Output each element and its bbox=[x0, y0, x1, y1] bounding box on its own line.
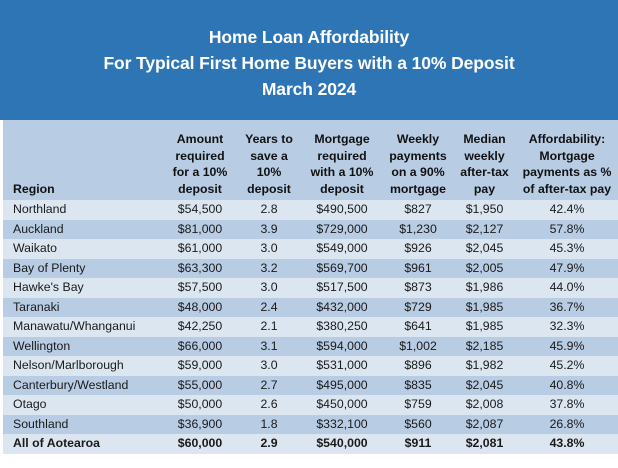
total-cell-years: 2.9 bbox=[237, 434, 301, 454]
column-header-affordability-line-1: Affordability: bbox=[520, 131, 614, 148]
cell-region: Taranaki bbox=[3, 298, 163, 318]
cell-weekly: $759 bbox=[383, 395, 453, 415]
cell-affordability: 44.0% bbox=[516, 278, 618, 298]
table-row: Bay of Plenty$63,3003.2$569,700$961$2,00… bbox=[3, 259, 618, 279]
column-header-median-pay: Median weekly after-tax pay bbox=[453, 120, 516, 200]
cell-years: 2.4 bbox=[237, 298, 301, 318]
column-header-years-line-2: save a bbox=[241, 148, 297, 165]
column-header-weekly-line-1: Weekly bbox=[387, 131, 449, 148]
cell-median: $1,985 bbox=[453, 298, 516, 318]
cell-amount: $61,000 bbox=[163, 239, 237, 259]
cell-region: Hawke's Bay bbox=[3, 278, 163, 298]
cell-mortgage: $495,000 bbox=[301, 376, 383, 396]
affordability-table: Region Amount required for a 10% deposit… bbox=[3, 120, 618, 454]
cell-years: 3.0 bbox=[237, 239, 301, 259]
total-cell-region: All of Aotearoa bbox=[3, 434, 163, 454]
cell-median: $1,985 bbox=[453, 317, 516, 337]
cell-affordability: 32.3% bbox=[516, 317, 618, 337]
cell-median: $2,185 bbox=[453, 337, 516, 357]
table-row: Auckland$81,0003.9$729,000$1,230$2,12757… bbox=[3, 220, 618, 240]
cell-amount: $50,000 bbox=[163, 395, 237, 415]
cell-amount: $66,000 bbox=[163, 337, 237, 357]
cell-mortgage: $729,000 bbox=[301, 220, 383, 240]
cell-region: Canterbury/Westland bbox=[3, 376, 163, 396]
column-header-affordability: Affordability: Mortgage payments as % of… bbox=[516, 120, 618, 200]
cell-affordability: 45.2% bbox=[516, 356, 618, 376]
cell-mortgage: $432,000 bbox=[301, 298, 383, 318]
cell-amount: $54,500 bbox=[163, 200, 237, 220]
report-page: Home Loan Affordability For Typical Firs… bbox=[0, 0, 618, 468]
column-header-affordability-line-3: payments as % bbox=[520, 164, 614, 181]
cell-weekly: $835 bbox=[383, 376, 453, 396]
cell-amount: $36,900 bbox=[163, 415, 237, 435]
table-row: Otago$50,0002.6$450,000$759$2,00837.8% bbox=[3, 395, 618, 415]
cell-affordability: 36.7% bbox=[516, 298, 618, 318]
cell-affordability: 45.9% bbox=[516, 337, 618, 357]
column-header-amount: Amount required for a 10% deposit bbox=[163, 120, 237, 200]
column-header-years-line-1: Years to bbox=[241, 131, 297, 148]
cell-mortgage: $380,250 bbox=[301, 317, 383, 337]
cell-region: Auckland bbox=[3, 220, 163, 240]
cell-affordability: 26.8% bbox=[516, 415, 618, 435]
cell-region: Wellington bbox=[3, 337, 163, 357]
column-header-affordability-line-2: Mortgage bbox=[520, 148, 614, 165]
column-header-weekly-line-4: mortgage bbox=[387, 181, 449, 198]
column-header-weekly-line-2: payments bbox=[387, 148, 449, 165]
column-header-amount-line-3: for a 10% bbox=[167, 164, 233, 181]
cell-amount: $59,000 bbox=[163, 356, 237, 376]
cell-mortgage: $531,000 bbox=[301, 356, 383, 376]
cell-weekly: $896 bbox=[383, 356, 453, 376]
column-header-affordability-line-4: of after-tax pay bbox=[520, 181, 614, 198]
cell-median: $1,950 bbox=[453, 200, 516, 220]
column-header-region: Region bbox=[3, 120, 163, 200]
column-header-mortgage: Mortgage required with a 10% deposit bbox=[301, 120, 383, 200]
cell-median: $2,087 bbox=[453, 415, 516, 435]
cell-amount: $55,000 bbox=[163, 376, 237, 396]
total-cell-median: $2,081 bbox=[453, 434, 516, 454]
cell-region: Manawatu/Whanganui bbox=[3, 317, 163, 337]
affordability-table-wrapper: Region Amount required for a 10% deposit… bbox=[3, 120, 618, 454]
cell-amount: $42,250 bbox=[163, 317, 237, 337]
page-title-line-1: Home Loan Affordability bbox=[209, 24, 409, 50]
cell-years: 3.1 bbox=[237, 337, 301, 357]
cell-affordability: 40.8% bbox=[516, 376, 618, 396]
column-header-weekly-payments: Weekly payments on a 90% mortgage bbox=[383, 120, 453, 200]
cell-amount: $81,000 bbox=[163, 220, 237, 240]
cell-median: $2,005 bbox=[453, 259, 516, 279]
cell-weekly: $873 bbox=[383, 278, 453, 298]
cell-affordability: 42.4% bbox=[516, 200, 618, 220]
cell-mortgage: $450,000 bbox=[301, 395, 383, 415]
cell-years: 2.7 bbox=[237, 376, 301, 396]
cell-region: Nelson/Marlborough bbox=[3, 356, 163, 376]
cell-region: Waikato bbox=[3, 239, 163, 259]
table-header-row: Region Amount required for a 10% deposit… bbox=[3, 120, 618, 200]
cell-weekly: $641 bbox=[383, 317, 453, 337]
total-cell-amount: $60,000 bbox=[163, 434, 237, 454]
cell-years: 3.0 bbox=[237, 356, 301, 376]
cell-median: $2,045 bbox=[453, 239, 516, 259]
cell-years: 2.6 bbox=[237, 395, 301, 415]
table-row: Southland$36,9001.8$332,100$560$2,08726.… bbox=[3, 415, 618, 435]
page-title-line-2: For Typical First Home Buyers with a 10%… bbox=[103, 50, 514, 76]
total-cell-affordability: 43.8% bbox=[516, 434, 618, 454]
column-header-mortgage-line-1: Mortgage bbox=[305, 131, 379, 148]
cell-median: $1,986 bbox=[453, 278, 516, 298]
cell-years: 2.8 bbox=[237, 200, 301, 220]
cell-weekly: $729 bbox=[383, 298, 453, 318]
column-header-years-line-3: 10% bbox=[241, 164, 297, 181]
cell-amount: $57,500 bbox=[163, 278, 237, 298]
cell-median: $2,127 bbox=[453, 220, 516, 240]
cell-affordability: 37.8% bbox=[516, 395, 618, 415]
cell-mortgage: $569,700 bbox=[301, 259, 383, 279]
cell-years: 1.8 bbox=[237, 415, 301, 435]
column-header-mortgage-line-4: deposit bbox=[305, 181, 379, 198]
cell-mortgage: $332,100 bbox=[301, 415, 383, 435]
cell-weekly: $1,230 bbox=[383, 220, 453, 240]
cell-affordability: 47.9% bbox=[516, 259, 618, 279]
column-header-mortgage-line-3: with a 10% bbox=[305, 164, 379, 181]
table-row: Waikato$61,0003.0$549,000$926$2,04545.3% bbox=[3, 239, 618, 259]
table-row: Wellington$66,0003.1$594,000$1,002$2,185… bbox=[3, 337, 618, 357]
cell-weekly: $926 bbox=[383, 239, 453, 259]
table-row: Manawatu/Whanganui$42,2502.1$380,250$641… bbox=[3, 317, 618, 337]
cell-affordability: 57.8% bbox=[516, 220, 618, 240]
column-header-weekly-line-3: on a 90% bbox=[387, 164, 449, 181]
cell-mortgage: $490,500 bbox=[301, 200, 383, 220]
cell-region: Bay of Plenty bbox=[3, 259, 163, 279]
column-header-median-line-1: Median bbox=[457, 131, 512, 148]
total-cell-weekly: $911 bbox=[383, 434, 453, 454]
cell-median: $1,982 bbox=[453, 356, 516, 376]
column-header-amount-line-1: Amount bbox=[167, 131, 233, 148]
cell-amount: $63,300 bbox=[163, 259, 237, 279]
column-header-years: Years to save a 10% deposit bbox=[237, 120, 301, 200]
table-body: Northland$54,5002.8$490,500$827$1,95042.… bbox=[3, 200, 618, 454]
cell-region: Otago bbox=[3, 395, 163, 415]
table-row: Nelson/Marlborough$59,0003.0$531,000$896… bbox=[3, 356, 618, 376]
cell-years: 3.2 bbox=[237, 259, 301, 279]
column-header-median-line-2: weekly bbox=[457, 148, 512, 165]
cell-amount: $48,000 bbox=[163, 298, 237, 318]
column-header-amount-line-4: deposit bbox=[167, 181, 233, 198]
cell-mortgage: $594,000 bbox=[301, 337, 383, 357]
cell-median: $2,008 bbox=[453, 395, 516, 415]
table-row: Hawke's Bay$57,5003.0$517,500$873$1,9864… bbox=[3, 278, 618, 298]
cell-years: 3.9 bbox=[237, 220, 301, 240]
cell-region: Northland bbox=[3, 200, 163, 220]
table-total-row: All of Aotearoa$60,0002.9$540,000$911$2,… bbox=[3, 434, 618, 454]
table-row: Taranaki$48,0002.4$432,000$729$1,98536.7… bbox=[3, 298, 618, 318]
cell-years: 3.0 bbox=[237, 278, 301, 298]
column-header-median-line-3: after-tax bbox=[457, 164, 512, 181]
column-header-years-line-4: deposit bbox=[241, 181, 297, 198]
table-row: Northland$54,5002.8$490,500$827$1,95042.… bbox=[3, 200, 618, 220]
cell-mortgage: $517,500 bbox=[301, 278, 383, 298]
column-header-amount-line-2: required bbox=[167, 148, 233, 165]
table-header: Region Amount required for a 10% deposit… bbox=[3, 120, 618, 200]
cell-weekly: $827 bbox=[383, 200, 453, 220]
cell-years: 2.1 bbox=[237, 317, 301, 337]
cell-weekly: $560 bbox=[383, 415, 453, 435]
cell-median: $2,045 bbox=[453, 376, 516, 396]
column-header-mortgage-line-2: required bbox=[305, 148, 379, 165]
cell-weekly: $961 bbox=[383, 259, 453, 279]
cell-weekly: $1,002 bbox=[383, 337, 453, 357]
cell-mortgage: $549,000 bbox=[301, 239, 383, 259]
title-banner: Home Loan Affordability For Typical Firs… bbox=[0, 0, 618, 120]
cell-affordability: 45.3% bbox=[516, 239, 618, 259]
page-title-line-3: March 2024 bbox=[262, 76, 356, 102]
column-header-median-line-4: pay bbox=[457, 181, 512, 198]
cell-region: Southland bbox=[3, 415, 163, 435]
table-row: Canterbury/Westland$55,0002.7$495,000$83… bbox=[3, 376, 618, 396]
total-cell-mortgage: $540,000 bbox=[301, 434, 383, 454]
